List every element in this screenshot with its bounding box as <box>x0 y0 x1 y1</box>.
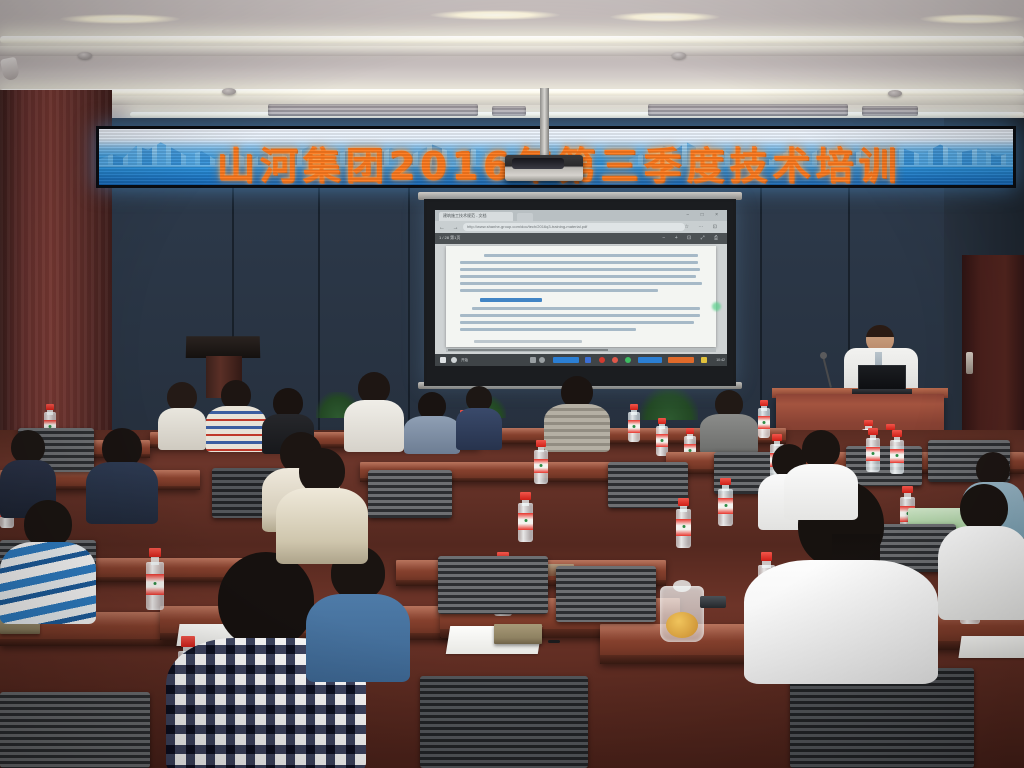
projector-lens-icon <box>512 158 564 169</box>
smoke-detector-icon <box>78 52 92 59</box>
bottled-water[interactable] <box>146 548 164 610</box>
projector-mount-pole <box>540 88 549 158</box>
bottled-water[interactable] <box>866 428 880 472</box>
window-controls[interactable]: − □ × <box>686 212 723 218</box>
ceiling-spotlight <box>430 10 560 20</box>
start-button-icon[interactable] <box>440 357 446 363</box>
url-text: http://www.shanhe-group.com/doc/tech/201… <box>467 224 681 229</box>
attendee <box>456 386 502 448</box>
attendee <box>344 372 404 450</box>
ceiling-spotlight <box>610 12 720 22</box>
document-heading <box>480 298 542 302</box>
microphone-icon <box>820 352 827 359</box>
conference-chair[interactable] <box>368 470 452 518</box>
projection-screen: 建筑施工技术规范 - 文档 − □ × ← → ⟳ http://www.sha… <box>424 199 736 386</box>
smoke-detector-icon <box>222 88 236 95</box>
task-view-icon[interactable] <box>530 357 536 363</box>
taskbar-app-editor[interactable] <box>668 357 694 363</box>
training-notebook <box>494 624 542 644</box>
surveillance-camera-icon <box>0 57 20 82</box>
bottled-water[interactable] <box>676 498 691 548</box>
document-scrollbar[interactable] <box>446 348 716 352</box>
bottled-water[interactable] <box>656 418 668 456</box>
bottled-water[interactable] <box>890 430 904 474</box>
ceiling-spotlight <box>60 14 180 24</box>
air-vent <box>862 106 918 116</box>
lectern-top <box>186 336 261 358</box>
taskbar-app-browser[interactable] <box>585 357 591 363</box>
attendee <box>0 500 96 620</box>
conference-room-photo: 山河集团2016年第三季度技术培训 建筑施工技术规范 - 文档 − □ × ← … <box>0 0 1024 768</box>
conference-chair[interactable] <box>438 556 548 614</box>
attendee <box>86 428 158 520</box>
attendee <box>306 546 410 676</box>
air-vent <box>492 106 526 116</box>
conference-chair[interactable] <box>420 676 588 768</box>
door-handle-icon[interactable] <box>966 352 973 374</box>
taskbar-app-player[interactable] <box>612 357 618 363</box>
windows-taskbar[interactable]: 开始 10:42 <box>435 354 727 366</box>
tray-icon[interactable] <box>701 357 707 363</box>
attendee <box>206 380 266 450</box>
smoke-detector-icon <box>672 52 686 59</box>
attendee <box>784 430 858 514</box>
presenter-laptop-base <box>852 389 912 394</box>
attendee <box>276 448 368 558</box>
potted-plant <box>640 388 698 420</box>
page-indicator: 1 / 28 第1页 <box>439 235 460 241</box>
bottled-water[interactable] <box>718 478 733 526</box>
fruit-bag <box>660 586 704 642</box>
bottled-water[interactable] <box>628 404 640 442</box>
attendee <box>938 484 1024 616</box>
document-tool-icons[interactable]: − + ⊡ ⤢ ⎙ <box>662 235 722 241</box>
ceiling-beam <box>0 46 1024 56</box>
presenter-laptop-screen <box>858 365 906 391</box>
status-indicator <box>712 302 721 311</box>
bottled-water[interactable] <box>534 440 548 484</box>
ceiling-beam <box>0 96 1024 105</box>
cortana-icon[interactable] <box>539 357 545 363</box>
ceiling <box>0 0 1024 122</box>
taskbar-clock: 10:42 <box>716 358 725 362</box>
bottled-water[interactable] <box>758 400 770 438</box>
ceiling-spotlight <box>920 14 1024 24</box>
attendee <box>700 390 758 450</box>
strip-light <box>0 36 1024 43</box>
document-page <box>446 246 716 347</box>
conference-chair[interactable] <box>556 566 656 622</box>
bottled-water[interactable] <box>518 492 533 542</box>
air-vent <box>268 104 478 116</box>
strip-light <box>0 89 1024 95</box>
taskbar-label: 开始 <box>461 358 468 363</box>
taskbar-app-document[interactable] <box>553 357 579 363</box>
smoke-detector-icon <box>888 90 902 97</box>
handout-paper <box>958 636 1024 658</box>
mobile-phone[interactable] <box>700 596 726 608</box>
taskbar-app-wechat[interactable] <box>625 357 631 363</box>
attendee <box>544 376 610 450</box>
browser-new-tab-button[interactable] <box>517 213 533 221</box>
conference-chair[interactable] <box>0 692 150 768</box>
browser-tab-label: 建筑施工技术规范 - 文档 <box>443 213 487 219</box>
search-icon[interactable] <box>451 357 457 363</box>
taskbar-app-mail[interactable] <box>599 357 605 363</box>
browser-window[interactable]: 建筑施工技术规范 - 文档 − □ × ← → ⟳ http://www.sha… <box>435 210 727 366</box>
attendee <box>158 382 206 448</box>
air-vent <box>648 104 848 116</box>
taskbar-app-qq[interactable] <box>638 357 662 363</box>
pen[interactable] <box>548 640 560 643</box>
attendee <box>404 392 460 450</box>
browser-toolbar-icons[interactable]: ☆ ⋯ ⊡ <box>685 224 721 230</box>
